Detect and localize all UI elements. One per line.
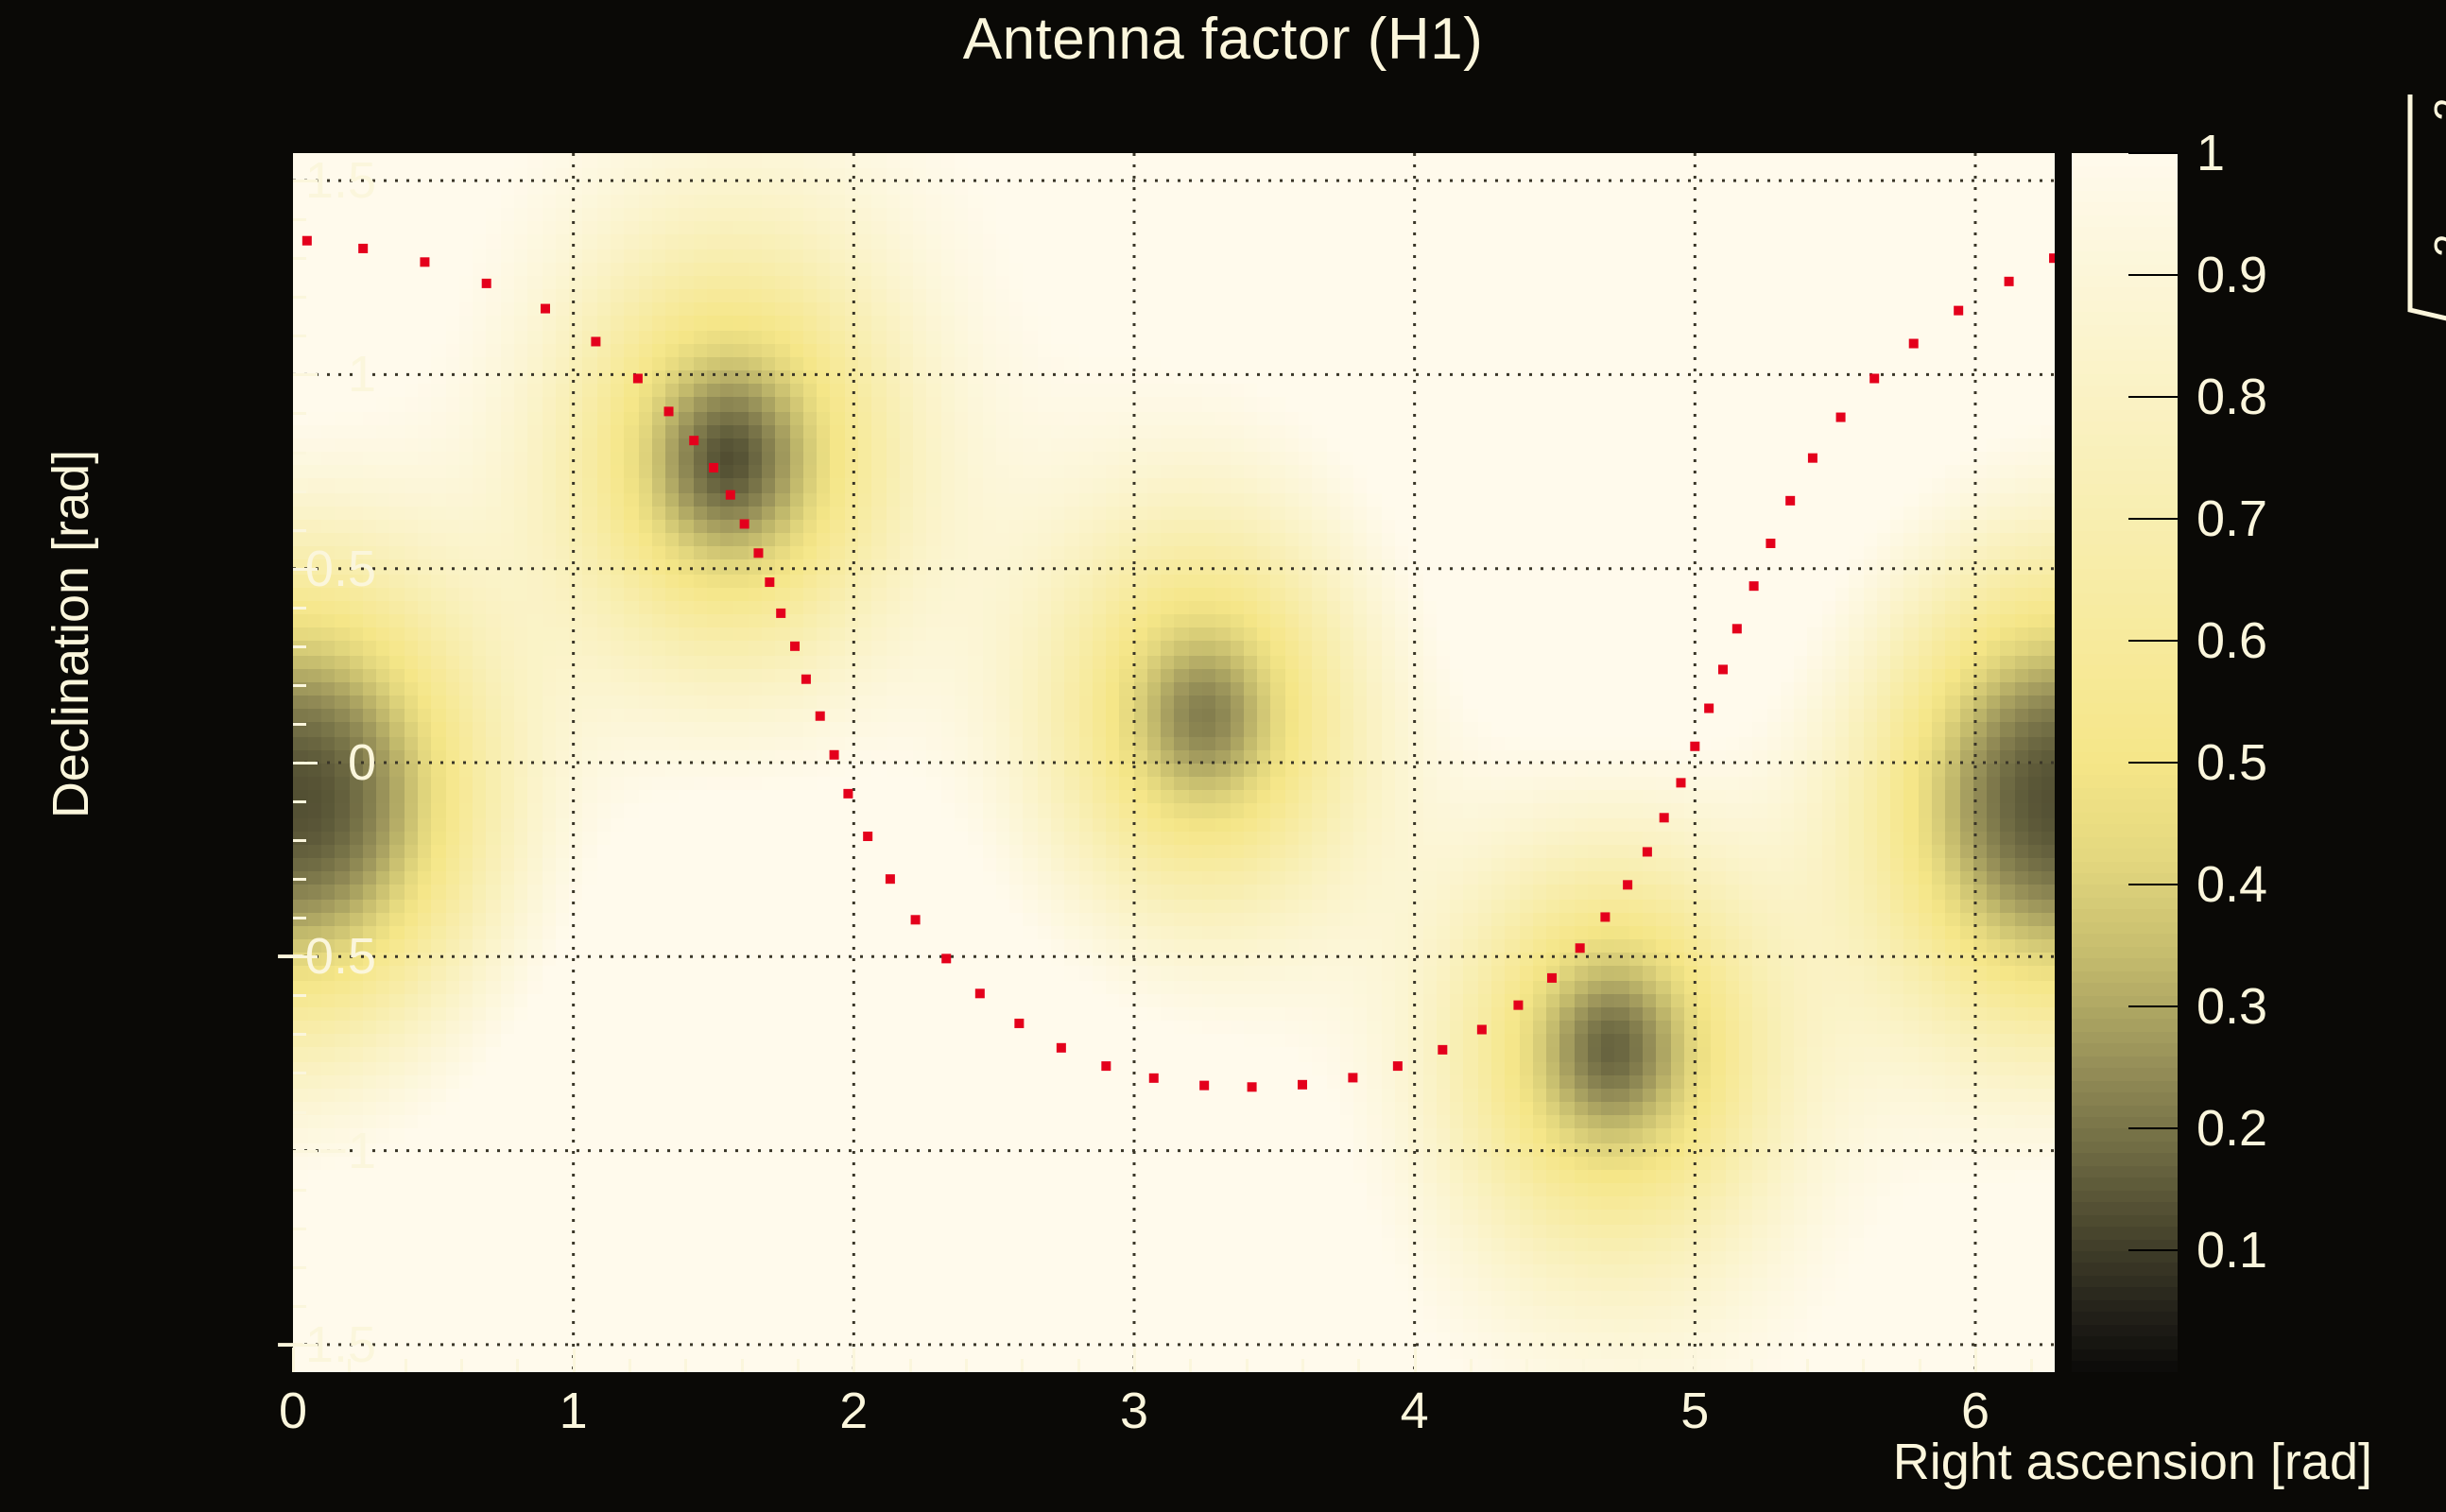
x-tick-minor	[741, 1359, 744, 1372]
x-tick-label: 2	[759, 1382, 948, 1440]
y-tick-minor	[293, 1266, 306, 1269]
y-tick-minor	[293, 257, 306, 260]
color-bar-tick	[2128, 518, 2178, 520]
chart-title: Antenna factor (H1)	[0, 6, 2446, 73]
color-bar-tick-label: 1	[2196, 124, 2225, 182]
y-tick-label: 0	[93, 733, 376, 792]
color-bar-tick-label: 0.2	[2196, 1099, 2267, 1158]
y-tick-label: 1	[93, 345, 376, 404]
y-tick-minor	[293, 1033, 306, 1036]
x-tick-minor	[405, 1359, 407, 1372]
color-bar-tick	[2128, 1005, 2178, 1007]
y-tick-minor	[293, 1072, 306, 1074]
y-tick-minor	[293, 1189, 306, 1192]
y-tick-minor	[293, 529, 306, 532]
x-tick-minor	[1919, 1359, 1921, 1372]
color-bar-tick	[2128, 640, 2178, 642]
x-tick-minor	[1357, 1359, 1360, 1372]
x-tick-major	[1694, 1348, 1697, 1372]
plot-area[interactable]	[293, 153, 2055, 1372]
y-tick-label: −0.5	[93, 927, 376, 986]
x-tick-minor	[1862, 1359, 1865, 1372]
x-tick-minor	[516, 1359, 519, 1372]
color-bar-tick-label: 0.5	[2196, 733, 2267, 792]
x-tick-minor	[1750, 1359, 1753, 1372]
y-tick-minor	[293, 490, 306, 493]
color-bar-tick-label: 0.6	[2196, 611, 2267, 670]
x-tick-label: 3	[1040, 1382, 1229, 1440]
x-tick-minor	[1525, 1359, 1528, 1372]
y-tick-minor	[293, 412, 306, 415]
heatmap-image	[293, 153, 2055, 1372]
color-bar-tick	[2128, 152, 2178, 154]
y-tick-minor	[293, 607, 306, 610]
x-tick-major	[1133, 1348, 1136, 1372]
x-tick-minor	[629, 1359, 631, 1372]
x-tick-minor	[1301, 1359, 1304, 1372]
color-bar-tick-label: 0.8	[2196, 368, 2267, 426]
color-bar-tick-label: 0.4	[2196, 855, 2267, 914]
color-bar-tick-label: 0.7	[2196, 490, 2267, 548]
color-bar-tick-label: 0.1	[2196, 1221, 2267, 1280]
x-tick-minor	[1638, 1359, 1641, 1372]
x-tick-minor	[1246, 1359, 1249, 1372]
x-tick-minor	[965, 1359, 968, 1372]
x-tick-minor	[1806, 1359, 1809, 1372]
chart-canvas: Antenna factor (H1) 1.510.50−0.5−1−1.5 0…	[0, 0, 2446, 1512]
x-tick-minor	[684, 1359, 687, 1372]
svg-text:F: F	[2438, 123, 2446, 164]
color-bar-tick	[2128, 274, 2178, 276]
y-tick-minor	[293, 723, 306, 726]
y-tick-minor	[293, 839, 306, 842]
x-tick-minor	[1077, 1359, 1080, 1372]
color-bar-tick	[2128, 762, 2178, 764]
y-axis-title: Declination [rad]	[42, 332, 100, 936]
x-tick-label: 5	[1600, 1382, 1789, 1440]
color-bar-tick	[2128, 1127, 2178, 1129]
y-tick-minor	[293, 1305, 306, 1308]
x-tick-label: 6	[1881, 1382, 2070, 1440]
x-tick-minor	[2030, 1359, 2033, 1372]
y-tick-label: 1.5	[93, 151, 376, 210]
color-bar-tick-label: 0.3	[2196, 977, 2267, 1036]
y-tick-minor	[293, 994, 306, 997]
y-tick-label: −1.5	[93, 1315, 376, 1374]
svg-text:+: +	[2438, 181, 2446, 221]
y-tick-label: −1	[93, 1122, 376, 1180]
y-tick-minor	[293, 452, 306, 455]
svg-text:2: 2	[2426, 234, 2446, 257]
x-tick-minor	[460, 1359, 463, 1372]
x-tick-label: 4	[1320, 1382, 1509, 1440]
x-tick-major	[1974, 1348, 1977, 1372]
svg-text:2: 2	[2426, 98, 2446, 121]
x-tick-label: 1	[479, 1382, 668, 1440]
y-tick-minor	[293, 800, 306, 803]
x-tick-minor	[1189, 1359, 1192, 1372]
y-tick-minor	[293, 296, 306, 299]
x-tick-major	[1414, 1348, 1417, 1372]
y-tick-label: 0.5	[93, 540, 376, 598]
svg-text:F: F	[2438, 259, 2446, 301]
y-tick-minor	[293, 645, 306, 648]
x-tick-minor	[1470, 1359, 1473, 1372]
x-tick-minor	[797, 1359, 800, 1372]
y-tick-minor	[293, 878, 306, 881]
x-tick-major	[573, 1348, 576, 1372]
x-axis-title: Right ascension [rad]	[1198, 1433, 2427, 1491]
x-tick-minor	[1582, 1359, 1585, 1372]
y-tick-minor	[293, 218, 306, 221]
color-bar-tick	[2128, 396, 2178, 398]
x-tick-minor	[1021, 1359, 1024, 1372]
x-tick-minor	[909, 1359, 912, 1372]
y-tick-minor	[293, 1111, 306, 1114]
y-tick-minor	[293, 1228, 306, 1230]
y-tick-minor	[293, 917, 306, 919]
color-bar-tick	[2128, 1249, 2178, 1251]
color-bar-tick-label: 0.9	[2196, 246, 2267, 304]
x-tick-major	[853, 1348, 855, 1372]
y-tick-minor	[293, 335, 306, 337]
color-bar-tick	[2128, 884, 2178, 885]
x-tick-label: 0	[198, 1382, 388, 1440]
y-tick-minor	[293, 684, 306, 687]
